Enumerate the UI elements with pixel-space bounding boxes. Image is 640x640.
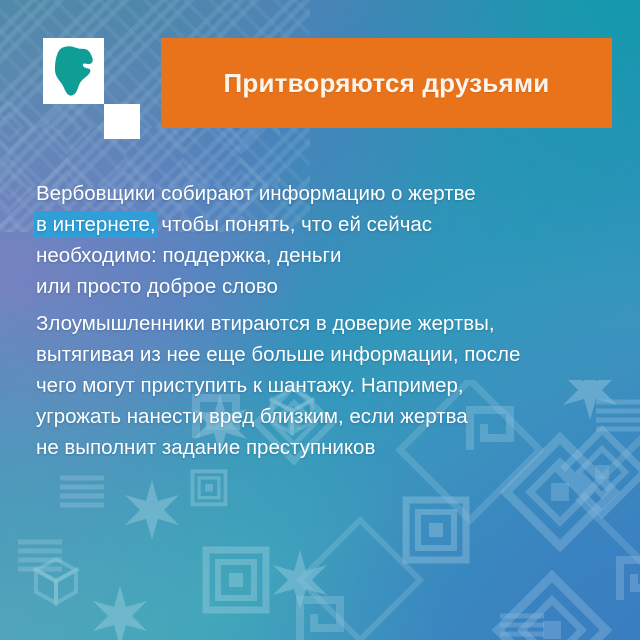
paragraph-1: Вербовщики собирают информацию о жертве … (36, 178, 476, 302)
paragraph-2-line-3: чего могут приступить к шантажу. Наприме… (36, 370, 520, 401)
logo (43, 38, 105, 106)
page-title: Притворяются друзьями (224, 69, 550, 98)
logo-accent-square (104, 104, 140, 139)
paragraph-2-line-5: не выполнит задание преступников (36, 432, 520, 463)
infographic-card: Притворяются друзьями Вербовщики собираю… (0, 0, 640, 640)
paragraph-1-line-3: необходимо: поддержка, деньги (36, 240, 476, 271)
paragraph-1-line-2: в интернете, чтобы понять, что ей сейчас (36, 209, 476, 240)
belarus-map-icon (52, 45, 96, 97)
paragraph-2-line-1-text: Злоумышленники втираются в доверие жертв… (36, 312, 495, 335)
paragraph-1-line-1-text: Вербовщики собирают информацию о жертве (36, 182, 476, 205)
paragraph-2: Злоумышленники втираются в доверие жертв… (36, 308, 520, 463)
paragraph-2-line-1: Злоумышленники втираются в доверие жертв… (36, 308, 520, 339)
paragraph-1-line-4: или просто доброе слово (36, 271, 476, 302)
paragraph-1-line-2-tail: чтобы понять, что ей сейчас (156, 213, 432, 236)
paragraph-2-line-2: вытягивая из нее еще больше информации, … (36, 339, 520, 370)
header-banner: Притворяются друзьями (161, 38, 612, 128)
paragraph-1-line-2-highlight: в интернете, (36, 213, 156, 236)
paragraph-2-line-4: угрожать нанести вред близким, если жерт… (36, 401, 520, 432)
paragraph-1-line-1: Вербовщики собирают информацию о жертве (36, 178, 476, 209)
